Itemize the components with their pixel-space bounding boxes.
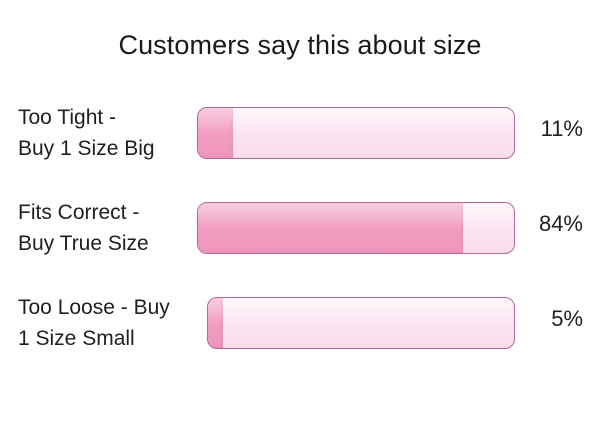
bar-gloss [198, 108, 514, 131]
bar-track [197, 202, 515, 254]
chart-title: Customers say this about size [0, 30, 600, 61]
row-label-line-2: Buy True Size [18, 228, 193, 259]
row-label: Too Loose - Buy 1 Size Small [18, 292, 193, 354]
bar-track [197, 107, 515, 159]
bar-fill [198, 108, 233, 158]
row-label-line-2: Buy 1 Size Big [18, 133, 193, 164]
row-label: Fits Correct - Buy True Size [18, 197, 193, 259]
chart-row: Fits Correct - Buy True Size 84% [0, 195, 600, 290]
row-label: Too Tight - Buy 1 Size Big [18, 102, 193, 164]
bar-fill [208, 298, 223, 348]
row-label-line-2: 1 Size Small [18, 323, 193, 354]
bar-fill [198, 203, 463, 253]
row-label-line-1: Fits Correct - [18, 201, 139, 224]
row-value: 11% [513, 116, 583, 142]
chart-row: Too Tight - Buy 1 Size Big 11% [0, 100, 600, 195]
bar-track [207, 297, 515, 349]
row-value: 84% [513, 211, 583, 237]
bar-gloss [208, 298, 514, 321]
size-feedback-chart: Customers say this about size Too Tight … [0, 0, 600, 438]
row-value: 5% [513, 306, 583, 332]
chart-rows: Too Tight - Buy 1 Size Big 11% Fits Corr… [0, 100, 600, 385]
chart-row: Too Loose - Buy 1 Size Small 5% [0, 290, 600, 385]
row-label-line-1: Too Loose - Buy [18, 296, 170, 319]
row-label-line-1: Too Tight - [18, 106, 116, 129]
